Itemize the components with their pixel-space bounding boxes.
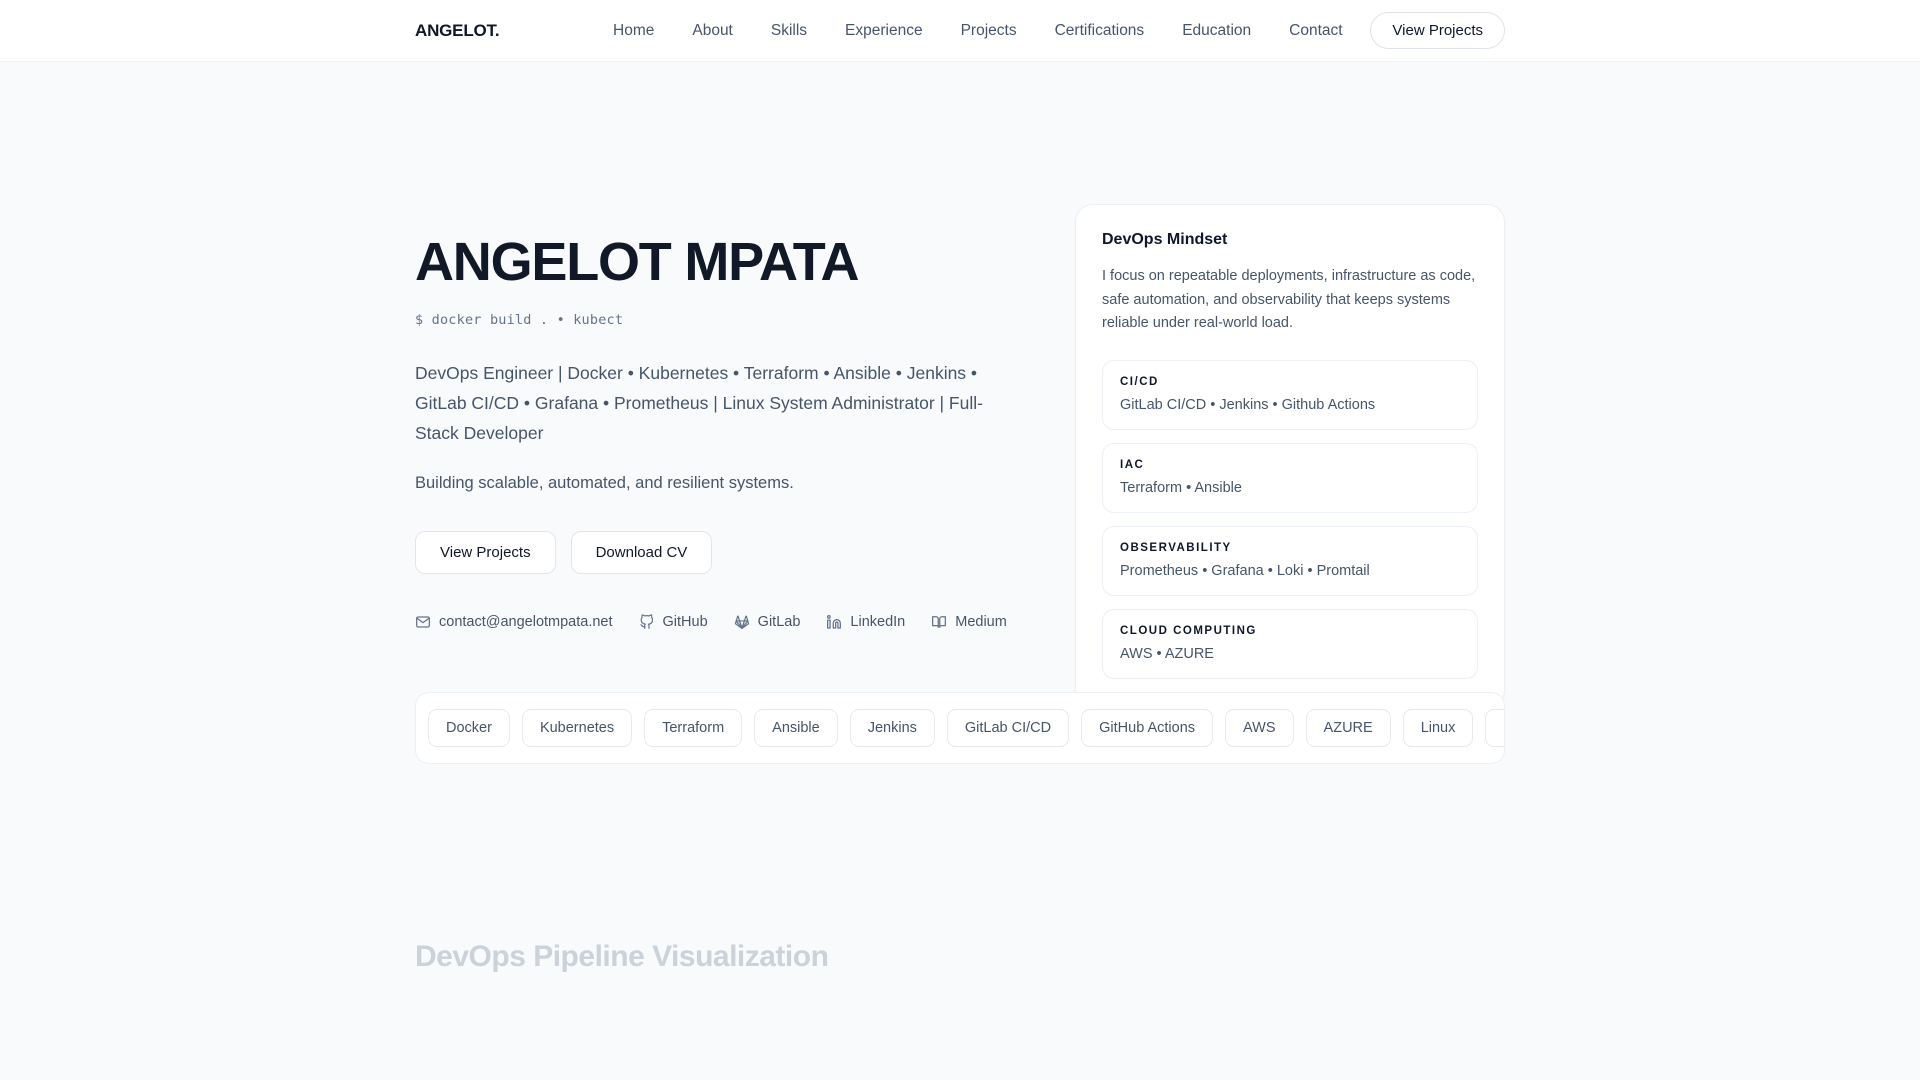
skill-card-iac-label: IAC [1120,459,1460,471]
social-link-linkedin-label: LinkedIn [850,614,905,630]
tech-tag-azure[interactable]: AZURE [1306,709,1391,747]
social-link-github-label: GitHub [663,614,708,630]
social-link-gitlab[interactable]: GitLab [734,614,801,630]
social-link-email[interactable]: contact@angelotmpata.net [415,614,613,630]
social-link-linkedin[interactable]: LinkedIn [826,614,905,630]
nav-item-about[interactable]: About [692,22,733,40]
nav-item-skills[interactable]: Skills [771,22,807,40]
tech-tag-aws[interactable]: AWS [1225,709,1294,747]
tech-tag-jenkins[interactable]: Jenkins [850,709,935,747]
tech-tag-terraform[interactable]: Terraform [644,709,742,747]
hero-section: ANGELOT MPATA $ docker build . • kubect … [0,62,1920,708]
skill-card-observability-label: OBSERVABILITY [1120,542,1460,554]
mail-icon [415,614,431,630]
brand-logo[interactable]: ANGELOT. [415,21,499,41]
page-title: ANGELOT MPATA [415,234,1075,290]
header-view-projects-button[interactable]: View Projects [1370,12,1505,49]
nav-item-experience[interactable]: Experience [845,22,923,40]
tech-stack-track: Docker Kubernetes Terraform Ansible Jenk… [416,693,1504,763]
devops-mindset-title: DevOps Mindset [1102,231,1478,249]
main-navigation: Home About Skills Experience Projects Ce… [613,22,1343,40]
hero-content: ANGELOT MPATA $ docker build . • kubect … [415,62,1075,630]
tech-tag-prometheus[interactable]: Prometheus [1485,709,1505,747]
tech-tag-docker[interactable]: Docker [428,709,510,747]
site-header: ANGELOT. Home About Skills Experience Pr… [0,0,1920,62]
hero-button-group: View Projects Download CV [415,531,1075,574]
tech-tag-github-actions[interactable]: GitHub Actions [1081,709,1213,747]
tech-tag-linux[interactable]: Linux [1403,709,1474,747]
nav-item-projects[interactable]: Projects [961,22,1017,40]
skill-card-cicd-label: CI/CD [1120,376,1460,388]
tech-tag-gitlab-cicd[interactable]: GitLab CI/CD [947,709,1069,747]
github-icon [639,614,655,630]
skill-card-cloud-computing[interactable]: CLOUD COMPUTING AWS • AZURE [1102,609,1478,679]
skill-card-cloud-computing-label: CLOUD COMPUTING [1120,625,1460,637]
skill-card-cicd-items: GitLab CI/CD • Jenkins • Github Actions [1120,397,1460,413]
hero-download-cv-button[interactable]: Download CV [571,531,713,574]
social-link-medium-label: Medium [955,614,1007,630]
devops-mindset-card: DevOps Mindset I focus on repeatable dep… [1075,204,1505,708]
skill-card-cloud-computing-items: AWS • AZURE [1120,646,1460,662]
tech-tag-ansible[interactable]: Ansible [754,709,838,747]
tech-stack-marquee: Docker Kubernetes Terraform Ansible Jenk… [415,692,1505,764]
nav-item-certifications[interactable]: Certifications [1055,22,1145,40]
devops-mindset-body: I focus on repeatable deployments, infra… [1102,265,1478,336]
hero-view-projects-button[interactable]: View Projects [415,531,556,574]
gitlab-icon [734,614,750,630]
social-links-row: contact@angelotmpata.net GitHub [415,614,1075,630]
pipeline-visualization-heading: DevOps Pipeline Visualization [415,940,1505,974]
nav-item-home[interactable]: Home [613,22,654,40]
social-link-github[interactable]: GitHub [639,614,708,630]
nav-item-education[interactable]: Education [1182,22,1251,40]
linkedin-icon [826,614,842,630]
skill-card-cicd[interactable]: CI/CD GitLab CI/CD • Jenkins • Github Ac… [1102,360,1478,430]
social-link-email-label: contact@angelotmpata.net [439,614,613,630]
skill-card-iac-items: Terraform • Ansible [1120,480,1460,496]
skill-card-iac[interactable]: IAC Terraform • Ansible [1102,443,1478,513]
medium-book-icon [931,614,947,630]
skill-card-observability[interactable]: OBSERVABILITY Prometheus • Grafana • Lok… [1102,526,1478,596]
skill-card-observability-items: Prometheus • Grafana • Loki • Promtail [1120,563,1460,579]
social-link-medium[interactable]: Medium [931,614,1007,630]
social-link-gitlab-label: GitLab [758,614,801,630]
pipeline-visualization-section: DevOps Pipeline Visualization [415,940,1505,974]
terminal-command-text: $ docker build . • kubect [415,312,1075,328]
hero-roles-text: DevOps Engineer | Docker • Kubernetes • … [415,358,1000,448]
hero-tagline-text: Building scalable, automated, and resili… [415,474,1075,493]
nav-item-contact[interactable]: Contact [1289,22,1342,40]
tech-tag-kubernetes[interactable]: Kubernetes [522,709,632,747]
